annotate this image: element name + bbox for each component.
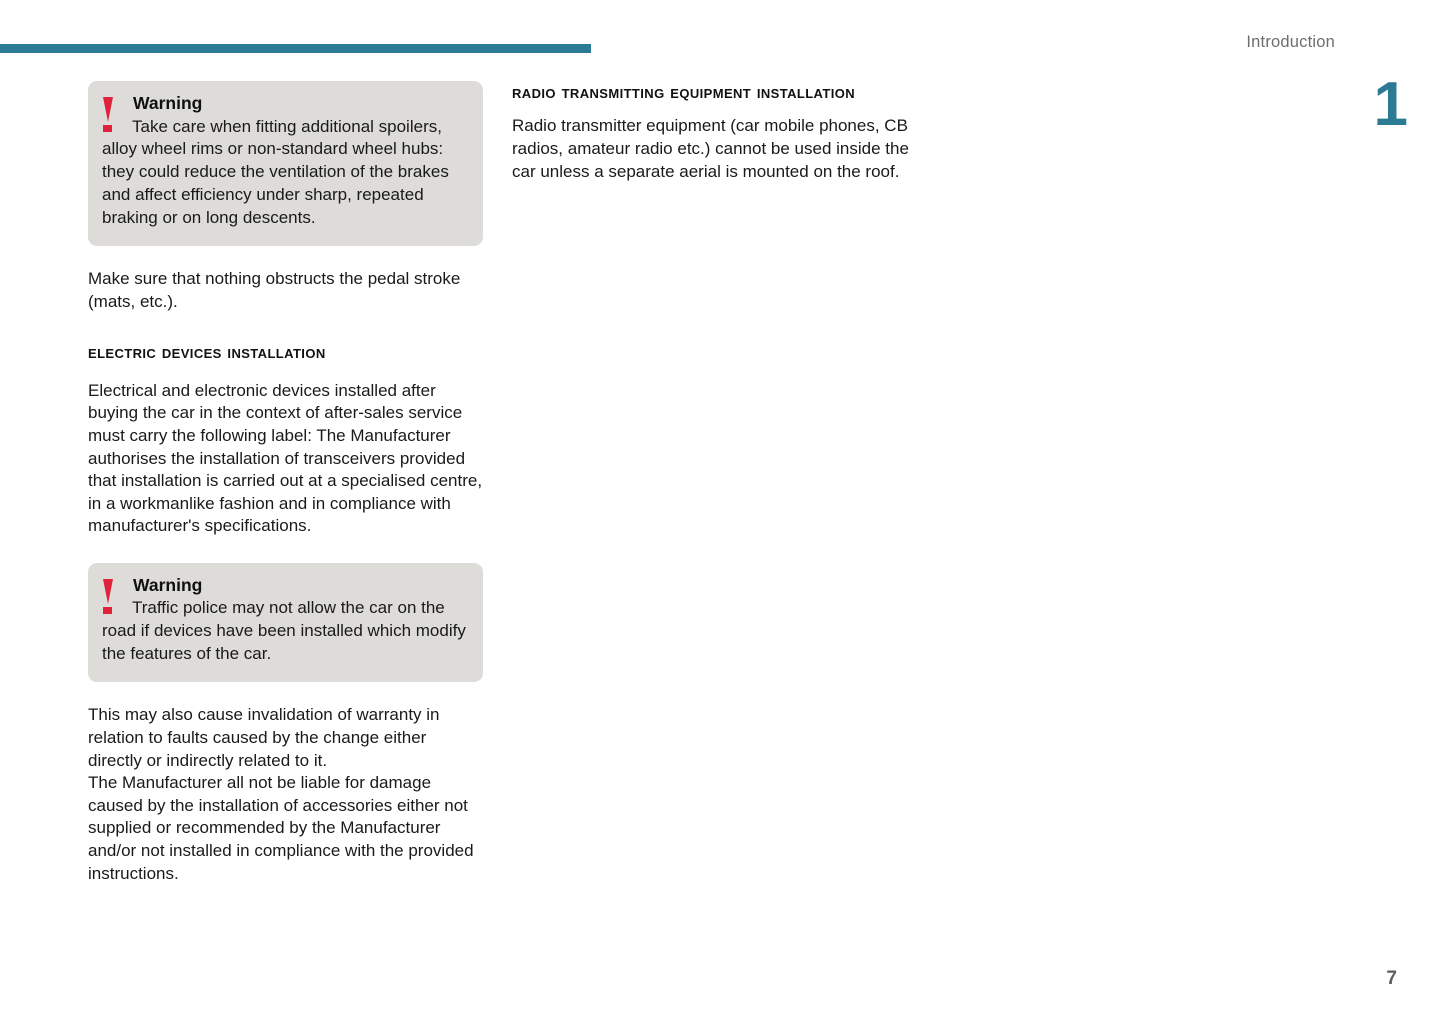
header-rule — [0, 44, 591, 53]
page-number: 7 — [1386, 968, 1397, 990]
left-paragraph-2: Electrical and electronic devices instal… — [88, 380, 483, 538]
left-column: Warning Take care when fitting additiona… — [88, 81, 483, 885]
heading-radio-transmitting-equipment-installation: Radio Transmitting Equipment Installatio… — [512, 81, 912, 105]
warning-box-2-text: Traffic police may not allow the car on … — [102, 597, 467, 666]
chapter-number: 1 — [1374, 74, 1407, 136]
right-paragraph-1: Radio transmitter equipment (car mobile … — [512, 115, 912, 183]
warning-box-2-title: Warning — [133, 577, 467, 595]
left-paragraph-4: The Manufacturer all not be liable for d… — [88, 772, 483, 885]
warning-box-1: Warning Take care when fitting additiona… — [88, 81, 483, 246]
exclamation-icon — [102, 97, 114, 133]
right-column: Radio Transmitting Equipment Installatio… — [512, 81, 912, 183]
warning-box-1-text: Take care when fitting additional spoile… — [102, 116, 467, 231]
warning-box-1-content: Warning Take care when fitting additiona… — [102, 95, 467, 230]
exclamation-icon — [102, 579, 114, 615]
warning-box-1-title: Warning — [133, 95, 467, 113]
warning-box-2-content: Warning Traffic police may not allow the… — [102, 577, 467, 666]
left-paragraph-3: This may also cause invalidation of warr… — [88, 704, 483, 772]
warning-box-2: Warning Traffic police may not allow the… — [88, 563, 483, 682]
header-section-label: Introduction — [1246, 33, 1335, 52]
heading-electric-devices-installation: Electric Devices Installation — [88, 341, 483, 365]
left-paragraph-1: Make sure that nothing obstructs the ped… — [88, 268, 483, 313]
